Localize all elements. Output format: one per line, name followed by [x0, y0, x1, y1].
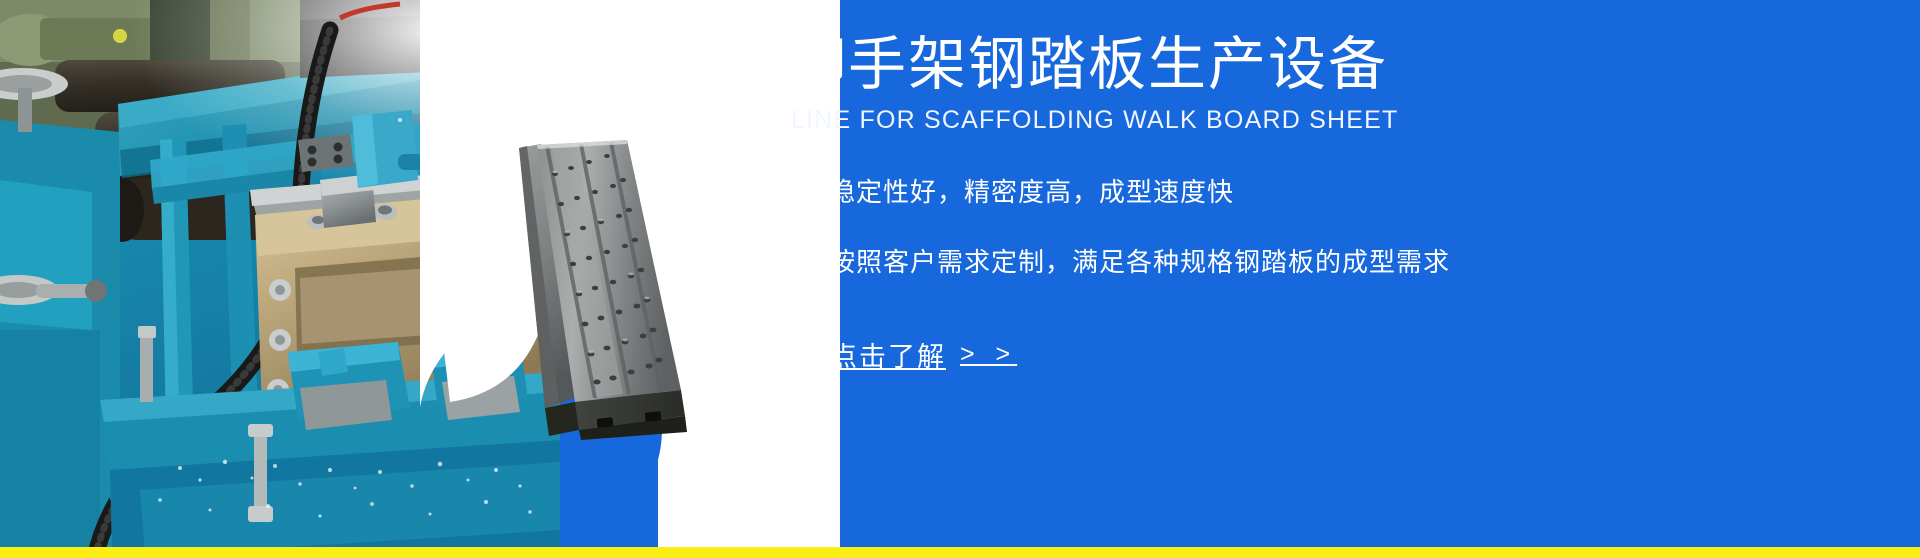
- promo-banner: 脚手架钢踏板生产设备 LINE FOR SCAFFOLDING WALK BOA…: [0, 0, 1920, 558]
- learn-more-link[interactable]: 点击了解 > >: [830, 335, 1017, 374]
- bottom-accent-bar: [0, 547, 1920, 558]
- page-title: 脚手架钢踏板生产设备: [788, 32, 1388, 99]
- scaffold-plank-product-image: [505, 140, 715, 440]
- empty-square-icon: [788, 181, 807, 200]
- chevron-right-icon: > >: [960, 340, 1017, 369]
- empty-square-icon: [788, 251, 807, 270]
- page-subtitle: LINE FOR SCAFFOLDING WALK BOARD SHEET: [791, 106, 1398, 135]
- feature-label: 稳定性好，精密度高，成型速度快: [829, 172, 1234, 209]
- banner-text-pane: 脚手架钢踏板生产设备 LINE FOR SCAFFOLDING WALK BOA…: [788, 0, 1908, 548]
- feature-item: 稳定性好，精密度高，成型速度快: [788, 172, 1234, 209]
- feature-item: 按照客户需求定制，满足各种规格钢踏板的成型需求: [788, 242, 1450, 279]
- scaffold-plank-graphic: [505, 140, 715, 440]
- feature-label: 按照客户需求定制，满足各种规格钢踏板的成型需求: [829, 242, 1450, 279]
- learn-more-label: 点击了解: [830, 335, 946, 374]
